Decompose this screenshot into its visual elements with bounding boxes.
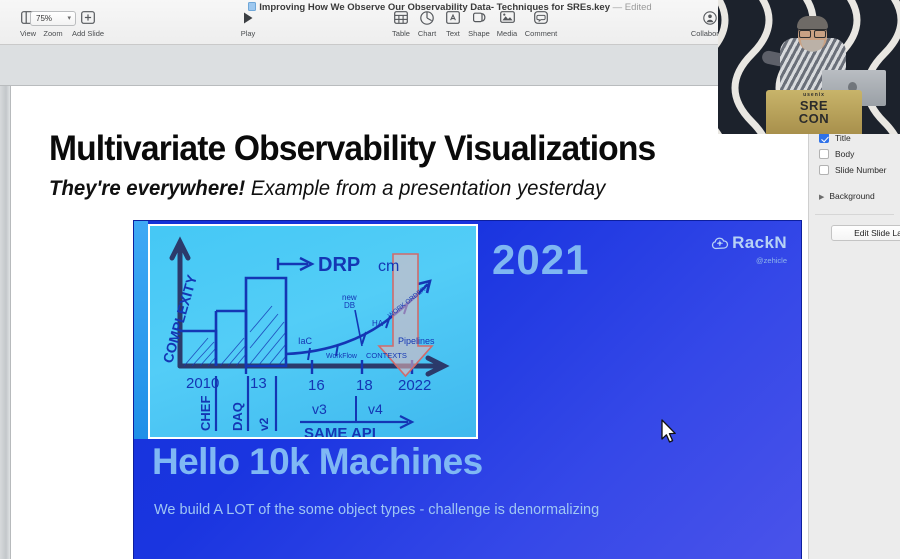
presenter-glasses [799, 29, 826, 35]
play-label: Play [224, 29, 272, 38]
keynote-app-window: Improving How We Observe Our Observabili… [0, 0, 900, 559]
chart-svg: DRP cm COMPLEXITY 2010 13 16 18 2022 IaC… [150, 226, 478, 439]
comment-label: Comment [517, 29, 565, 38]
svg-text:DAQ: DAQ [230, 402, 245, 431]
zoom-value: 75% [36, 14, 52, 23]
brand-handle: @zehicle [711, 256, 787, 265]
photo-headline: Hello 10k Machines [152, 441, 483, 483]
svg-text:16: 16 [308, 377, 325, 394]
checkbox-row-body[interactable]: Body [819, 146, 900, 162]
svg-text:SAME API: SAME API [304, 425, 376, 439]
speech-bubble-icon [517, 11, 565, 28]
svg-text:v3: v3 [312, 401, 327, 417]
conference-podium: usenix SRE CON [766, 90, 862, 134]
checkbox-slide-number[interactable] [819, 165, 829, 175]
svg-text:HA: HA [372, 319, 384, 328]
edited-status: Edited [625, 2, 652, 13]
svg-text:CONTEXTS: CONTEXTS [366, 351, 407, 360]
svg-text:13: 13 [250, 375, 267, 392]
comment-button[interactable]: Comment [517, 11, 565, 38]
svg-text:DRP: DRP [318, 254, 360, 276]
add-slide-button[interactable]: Add Slide [64, 11, 112, 38]
slide-navigator[interactable] [0, 86, 11, 559]
svg-text:IaC: IaC [298, 336, 313, 346]
slide-subtitle-emphasis: They're everywhere! [49, 177, 245, 200]
play-triangle-icon [224, 11, 272, 28]
keynote-document-icon [248, 2, 256, 11]
svg-text:v2: v2 [257, 417, 271, 431]
svg-text:v4: v4 [368, 401, 383, 417]
svg-text:18: 18 [356, 377, 373, 394]
handdrawn-complexity-chart: DRP cm COMPLEXITY 2010 13 16 18 2022 IaC… [148, 224, 478, 439]
inspector-divider [815, 214, 894, 215]
embedded-slide-photo[interactable]: DRP cm COMPLEXITY 2010 13 16 18 2022 IaC… [133, 220, 802, 559]
checkbox-row-slide-number[interactable]: Slide Number [819, 162, 900, 178]
title-dash: — [613, 2, 623, 13]
slide-subtitle[interactable]: They're everywhere! Example from a prese… [49, 177, 605, 201]
svg-text:WorkFlow: WorkFlow [326, 353, 358, 360]
add-slide-label: Add Slide [64, 29, 112, 38]
rackn-branding: RackN @zehicle [711, 233, 787, 265]
edit-slide-layout-button[interactable]: Edit Slide Layout [831, 225, 900, 241]
slide-canvas[interactable]: Multivariate Observability Visualization… [11, 86, 808, 559]
presenter-video-overlay[interactable]: usenix SRE CON [718, 0, 900, 134]
checkbox-body[interactable] [819, 149, 829, 159]
svg-text:2010: 2010 [186, 375, 219, 392]
podium-signage: usenix SRE CON [766, 93, 862, 125]
slide-title[interactable]: Multivariate Observability Visualization… [49, 129, 655, 169]
svg-text:DB: DB [344, 301, 355, 310]
presenter-hair [797, 16, 828, 29]
format-inspector-panel: Title Body Slide Number ▶Background Edit… [808, 86, 900, 559]
podium-line-3: CON [766, 112, 862, 125]
checkbox-title[interactable] [819, 133, 829, 143]
photo-accent-bar [134, 221, 148, 439]
plus-box-icon [64, 11, 112, 28]
mouse-pointer [660, 419, 678, 450]
background-disclosure[interactable]: ▶Background [819, 189, 900, 205]
checkbox-body-label: Body [835, 149, 854, 159]
checkbox-slide-number-label: Slide Number [835, 165, 887, 175]
checkbox-title-label: Title [835, 133, 851, 143]
brand-name: RackN [732, 233, 787, 252]
photo-caption: We build A LOT of the some object types … [154, 502, 599, 518]
rackn-cloud-logo-icon [711, 235, 729, 255]
svg-text:2022: 2022 [398, 377, 431, 394]
background-label: Background [829, 191, 874, 201]
svg-text:cm: cm [378, 258, 399, 275]
photo-year: 2021 [492, 236, 589, 284]
svg-text:CHEF: CHEF [198, 396, 213, 431]
chevron-right-icon: ▶ [819, 194, 824, 201]
slide-subtitle-rest: Example from a presentation yesterday [245, 177, 605, 200]
svg-text:Pipelines: Pipelines [398, 336, 435, 346]
play-button[interactable]: Play [224, 11, 272, 38]
